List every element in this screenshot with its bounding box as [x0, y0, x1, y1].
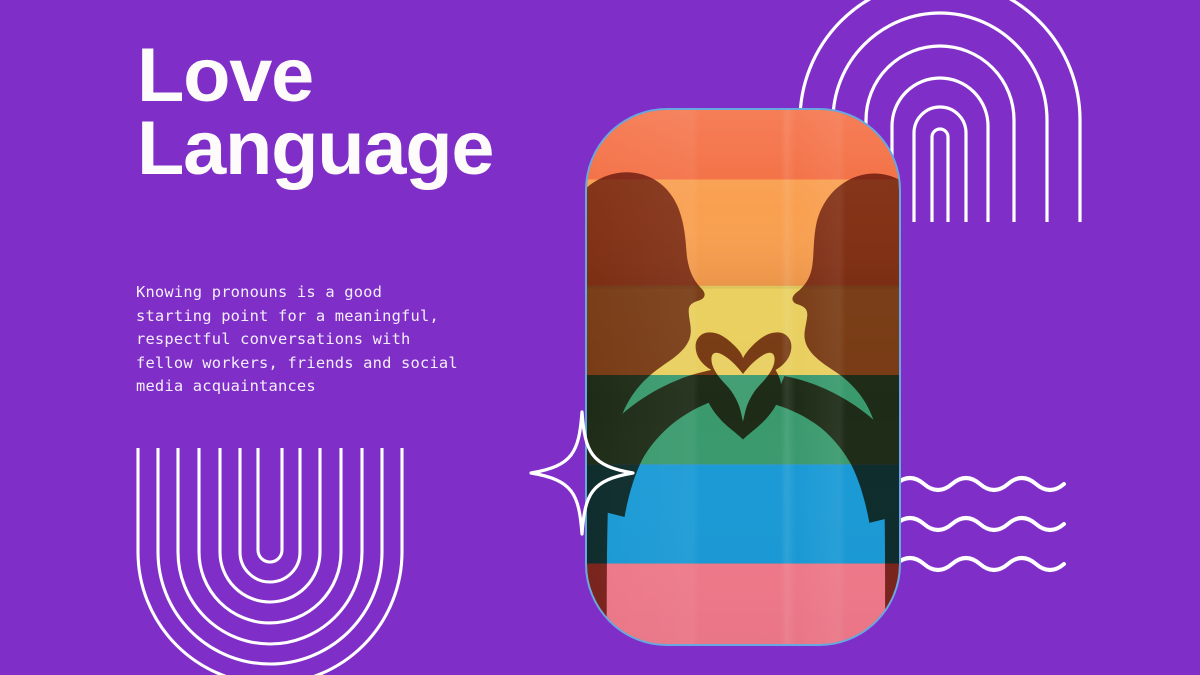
slide-canvas: Love Language Knowing pronouns is a good…: [0, 0, 1200, 675]
photo-card: [585, 108, 901, 646]
page-title: Love Language: [137, 40, 606, 186]
body-paragraph: Knowing pronouns is a good starting poin…: [136, 281, 536, 399]
concentric-u-arches-icon: [120, 440, 420, 675]
pride-flag-silhouette-photo: [587, 110, 899, 644]
